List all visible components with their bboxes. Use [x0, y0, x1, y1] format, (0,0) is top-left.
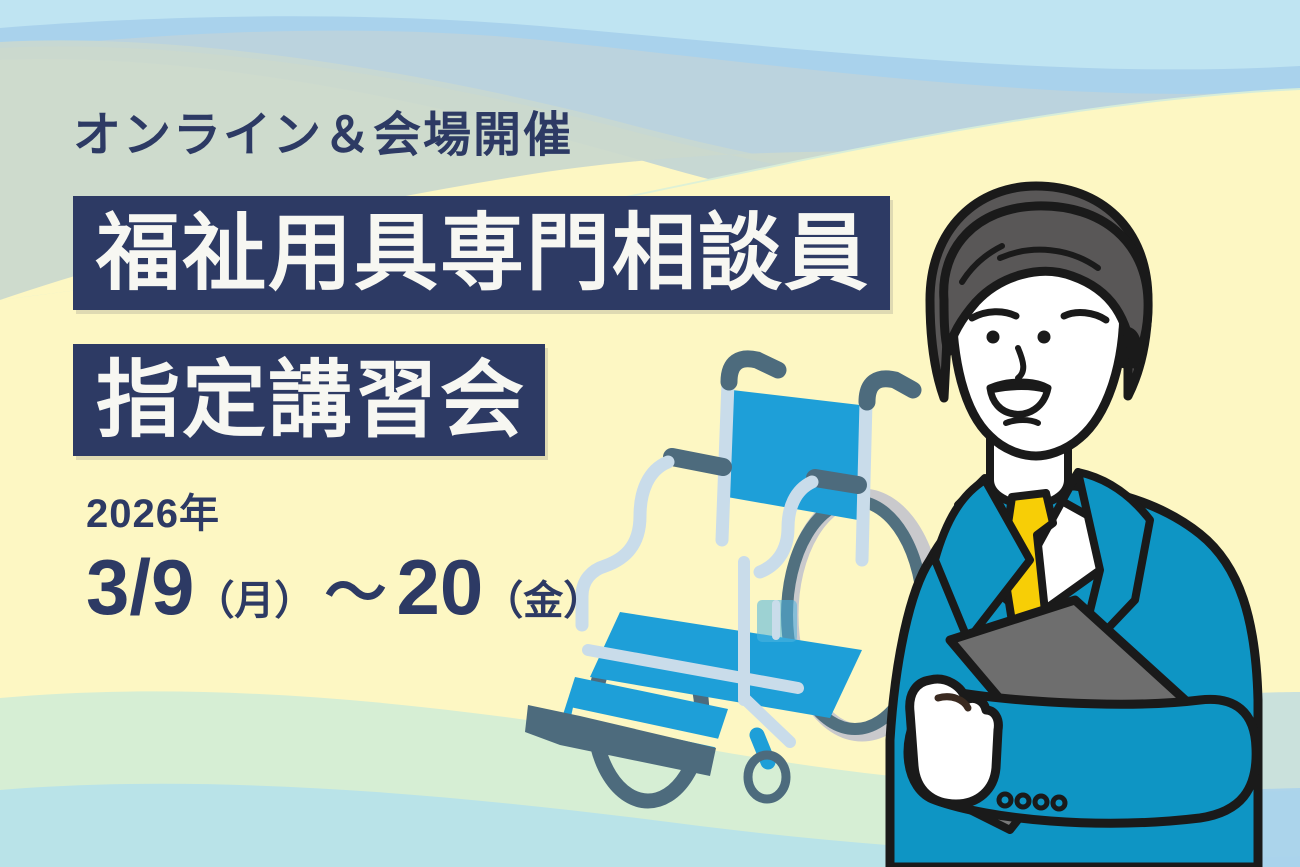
event-banner: オンライン＆会場開催 福祉用具専門相談員 指定講習会 2026年 3/9 （月）… — [0, 0, 1300, 867]
title-band-primary: 福祉用具専門相談員 — [73, 196, 890, 310]
event-year: 2026年 — [86, 494, 603, 534]
event-date-range: 3/9 （月） 〜 20 （金） — [86, 548, 603, 626]
date-end-weekday: （金） — [483, 581, 603, 621]
title-line-2: 指定講習会 — [96, 358, 526, 442]
event-format-kicker: オンライン＆会場開催 — [73, 112, 573, 160]
date-start-weekday: （月） — [194, 581, 314, 621]
date-end: 20 — [396, 548, 483, 626]
date-separator: 〜 — [314, 563, 396, 625]
title-line-1: 福祉用具専門相談員 — [96, 211, 870, 295]
date-start: 3/9 — [86, 548, 194, 626]
banner-text-content: オンライン＆会場開催 福祉用具専門相談員 指定講習会 2026年 3/9 （月）… — [0, 0, 1300, 867]
title-band-secondary: 指定講習会 — [73, 344, 545, 456]
event-date-block: 2026年 3/9 （月） 〜 20 （金） — [86, 494, 603, 626]
